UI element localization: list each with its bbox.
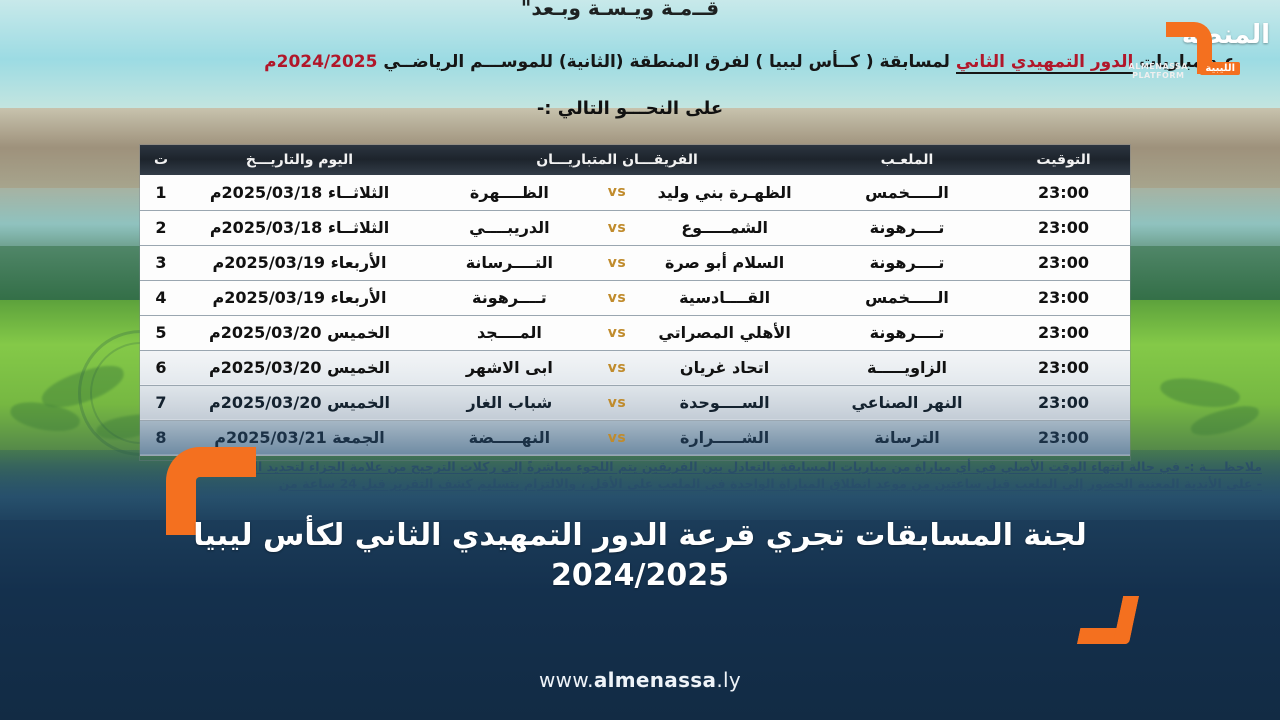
col-header-venue: الملعـب <box>817 145 997 175</box>
cell-teams-1: الظهـرة بني وليدvsالظــــهرة <box>417 175 817 210</box>
document-heading-line-1: قــ‌مـة ويـسـة وبـعد" <box>260 0 980 20</box>
cell-teams-4: القــــادسيةvsتــــرهونة <box>417 280 817 315</box>
cell-time-5: 23:00 <box>997 315 1130 350</box>
almenassa-logo: المنصة الليبية ALMENASSA PLATFORM <box>1064 18 1274 90</box>
cell-time-1: 23:00 <box>997 175 1130 210</box>
row-number: 7 <box>155 393 166 412</box>
match-date: 2025/03/20م <box>209 323 321 342</box>
cell-date-6: الخميس 2025/03/20م <box>182 350 417 385</box>
match-venue: الترسانة <box>874 428 939 447</box>
row-number: 2 <box>155 218 166 237</box>
home-team: شباب الغار <box>421 393 598 412</box>
match-teams: القــــادسيةvsتــــرهونة <box>421 288 813 307</box>
cell-venue-7: النهر الصناعي <box>817 385 997 420</box>
cell-date-4: الأربعاء 2025/03/19م <box>182 280 417 315</box>
match-venue: تــــرهونة <box>870 323 945 342</box>
logo-latin-subtitle: ALMENASSA PLATFORM <box>1129 62 1188 80</box>
foliage-blob <box>1158 373 1241 412</box>
match-date: 2025/03/18م <box>210 218 322 237</box>
match-teams: السلام أبو صرةvsالتــــرسانة <box>421 253 813 272</box>
away-team: الشـــــرارة <box>636 428 813 447</box>
match-date: 2025/03/20م <box>209 393 321 412</box>
row-number: 4 <box>155 288 166 307</box>
match-day: الأربعاء <box>331 253 387 272</box>
row-number: 5 <box>155 323 166 342</box>
cell-time-4: 23:00 <box>997 280 1130 315</box>
cell-venue-8: الترسانة <box>817 420 997 455</box>
col-header-time: التوقيت <box>997 145 1130 175</box>
match-day: الأربعاء <box>331 288 387 307</box>
match-time: 23:00 <box>1038 183 1089 202</box>
col-header-index: ت <box>140 145 182 175</box>
cell-time-8: 23:00 <box>997 420 1130 455</box>
caption-line-2: 2024/2025 <box>120 556 1160 596</box>
heading-rest: لمسابقة ( كــأس ليبيا ) لفرق المنطقة (ال… <box>377 52 955 72</box>
caption-line-1: لجنة المسابقات تجري قرعة الدور التمهيدي … <box>193 518 1087 553</box>
table-row: 23:00الزاويـــــةاتحاد غريانvsابى الاشهر… <box>140 350 1130 385</box>
url-suffix: .ly <box>716 668 741 692</box>
home-team: المــــجد <box>421 323 598 342</box>
home-team: ابى الاشهر <box>421 358 598 377</box>
table-body: 23:00الـــــخمسالظهـرة بني وليدvsالظــــ… <box>140 175 1130 455</box>
cell-teams-2: الشمـــــوعvsالدريبــــي <box>417 210 817 245</box>
cell-venue-5: تــــرهونة <box>817 315 997 350</box>
cell-date-1: الثلاثــاء 2025/03/18م <box>182 175 417 210</box>
row-number: 1 <box>155 183 166 202</box>
cell-venue-4: الـــــخمس <box>817 280 997 315</box>
match-time: 23:00 <box>1038 218 1089 237</box>
document-heading-line-3: على النحـــو التالي :- <box>420 98 840 119</box>
match-venue: الـــــخمس <box>865 288 949 307</box>
cell-date-5: الخميس 2025/03/20م <box>182 315 417 350</box>
away-team: الســــوحدة <box>636 393 813 412</box>
match-time: 23:00 <box>1038 393 1089 412</box>
vs-label: vs <box>598 184 636 200</box>
col-header-date: اليوم والتاريـــخ <box>182 145 417 175</box>
table-row: 23:00النهر الصناعيالســــوحدةvsشباب الغا… <box>140 385 1130 420</box>
cell-time-7: 23:00 <box>997 385 1130 420</box>
match-teams: الشمـــــوعvsالدريبــــي <box>421 218 813 237</box>
cell-venue-2: تــــرهونة <box>817 210 997 245</box>
home-team: تــــرهونة <box>421 288 598 307</box>
table-head: التوقيت الملعـب الفريقـــان المتباريـــا… <box>140 145 1130 175</box>
table-row: 23:00الـــــخمسالظهـرة بني وليدvsالظــــ… <box>140 175 1130 210</box>
match-date: 2025/03/19م <box>213 288 325 307</box>
match-venue: النهر الصناعي <box>851 393 962 412</box>
match-time: 23:00 <box>1038 288 1089 307</box>
url-prefix: www. <box>539 668 594 692</box>
match-venue: تــــرهونة <box>870 218 945 237</box>
home-team: النهـــــضة <box>421 428 598 447</box>
table-row: 23:00تــــرهونةالشمـــــوعvsالدريبــــيا… <box>140 210 1130 245</box>
table-row: 23:00تــــرهونةالأهلي المصراتيvsالمــــج… <box>140 315 1130 350</box>
cell-venue-3: تــــرهونة <box>817 245 997 280</box>
away-team: اتحاد غريان <box>636 358 813 377</box>
cell-venue-1: الـــــخمس <box>817 175 997 210</box>
row-number: 6 <box>155 358 166 377</box>
match-time: 23:00 <box>1038 358 1089 377</box>
cell-date-3: الأربعاء 2025/03/19م <box>182 245 417 280</box>
away-team: الظهـرة بني وليد <box>636 183 813 202</box>
vs-label: vs <box>598 325 636 341</box>
away-team: السلام أبو صرة <box>636 253 813 272</box>
cell-date-7: الخميس 2025/03/20م <box>182 385 417 420</box>
cell-index-1: 1 <box>140 175 182 210</box>
match-day: الجمعة <box>332 428 384 447</box>
match-date: 2025/03/21م <box>214 428 326 447</box>
col-header-teams: الفريقـــان المتباريـــان <box>417 145 817 175</box>
cell-date-2: الثلاثــاء 2025/03/18م <box>182 210 417 245</box>
match-time: 23:00 <box>1038 253 1089 272</box>
site-url[interactable]: www.almenassa.ly <box>0 668 1280 692</box>
cell-teams-5: الأهلي المصراتيvsالمــــجد <box>417 315 817 350</box>
cell-teams-7: الســــوحدةvsشباب الغار <box>417 385 817 420</box>
cell-teams-3: السلام أبو صرةvsالتــــرسانة <box>417 245 817 280</box>
match-teams: الســــوحدةvsشباب الغار <box>421 393 813 412</box>
match-date: 2025/03/20م <box>209 358 321 377</box>
home-team: التــــرسانة <box>421 253 598 272</box>
logo-latin-line-1: ALMENASSA <box>1129 62 1188 71</box>
cell-venue-6: الزاويـــــة <box>817 350 997 385</box>
match-teams: الظهـرة بني وليدvsالظــــهرة <box>421 183 813 202</box>
match-teams: الشـــــرارةvsالنهـــــضة <box>421 428 813 447</box>
cell-time-3: 23:00 <box>997 245 1130 280</box>
logo-badge-libyan: الليبية <box>1200 62 1240 75</box>
cell-index-2: 2 <box>140 210 182 245</box>
match-day: الثلاثــاء <box>328 218 389 237</box>
table-row: 23:00تــــرهونةالسلام أبو صرةvsالتــــرس… <box>140 245 1130 280</box>
cell-index-5: 5 <box>140 315 182 350</box>
fixtures-table: التوقيت الملعـب الفريقـــان المتباريـــا… <box>140 145 1130 456</box>
note-line-1: ملاحظــــة :- في حالة انتهاء الوقت الأصل… <box>172 459 1262 474</box>
foliage-blob <box>1188 402 1261 440</box>
quote-mark-close-icon <box>1077 596 1139 644</box>
home-team: الدريبــــي <box>421 218 598 237</box>
match-day: الخميس <box>327 323 390 342</box>
away-team: القــــادسية <box>636 288 813 307</box>
vs-label: vs <box>598 360 636 376</box>
match-teams: اتحاد غريانvsابى الاشهر <box>421 358 813 377</box>
match-day: الخميس <box>327 358 390 377</box>
cell-index-8: 8 <box>140 420 182 455</box>
logo-latin-line-2: PLATFORM <box>1132 71 1184 80</box>
vs-label: vs <box>598 290 636 306</box>
row-number: 3 <box>155 253 166 272</box>
home-team: الظــــهرة <box>421 183 598 202</box>
match-day: الخميس <box>327 393 390 412</box>
match-venue: الزاويـــــة <box>867 358 947 377</box>
fixtures-table-container: التوقيت الملعـب الفريقـــان المتباريـــا… <box>140 145 1130 460</box>
match-date: 2025/03/18م <box>210 183 322 202</box>
cell-teams-6: اتحاد غريانvsابى الاشهر <box>417 350 817 385</box>
match-venue: تــــرهونة <box>870 253 945 272</box>
match-time: 23:00 <box>1038 323 1089 342</box>
match-date: 2025/03/19م <box>213 253 325 272</box>
cell-time-6: 23:00 <box>997 350 1130 385</box>
vs-label: vs <box>598 395 636 411</box>
cell-index-6: 6 <box>140 350 182 385</box>
vs-label: vs <box>598 430 636 446</box>
vs-label: vs <box>598 220 636 236</box>
vs-label: vs <box>598 255 636 271</box>
match-time: 23:00 <box>1038 428 1089 447</box>
heading-season: 2024/2025م <box>264 52 377 72</box>
screenshot-canvas: قــ‌مـة ويـسـة وبـعد" عـد مباريات الدور … <box>0 0 1280 720</box>
row-number: 8 <box>155 428 166 447</box>
away-team: الأهلي المصراتي <box>636 323 813 342</box>
cell-index-4: 4 <box>140 280 182 315</box>
caption-block: لجنة المسابقات تجري قرعة الدور التمهيدي … <box>0 516 1280 596</box>
url-brand: almenassa <box>594 668 717 692</box>
table-header-row: التوقيت الملعـب الفريقـــان المتباريـــا… <box>140 145 1130 175</box>
match-teams: الأهلي المصراتيvsالمــــجد <box>421 323 813 342</box>
cell-index-7: 7 <box>140 385 182 420</box>
table-row: 23:00الترسانةالشـــــرارةvsالنهـــــضةال… <box>140 420 1130 455</box>
cell-time-2: 23:00 <box>997 210 1130 245</box>
cell-index-3: 3 <box>140 245 182 280</box>
cell-teams-8: الشـــــرارةvsالنهـــــضة <box>417 420 817 455</box>
match-day: الثلاثــاء <box>328 183 389 202</box>
away-team: الشمـــــوع <box>636 218 813 237</box>
match-venue: الـــــخمس <box>865 183 949 202</box>
table-row: 23:00الـــــخمسالقــــادسيةvsتــــرهونةا… <box>140 280 1130 315</box>
